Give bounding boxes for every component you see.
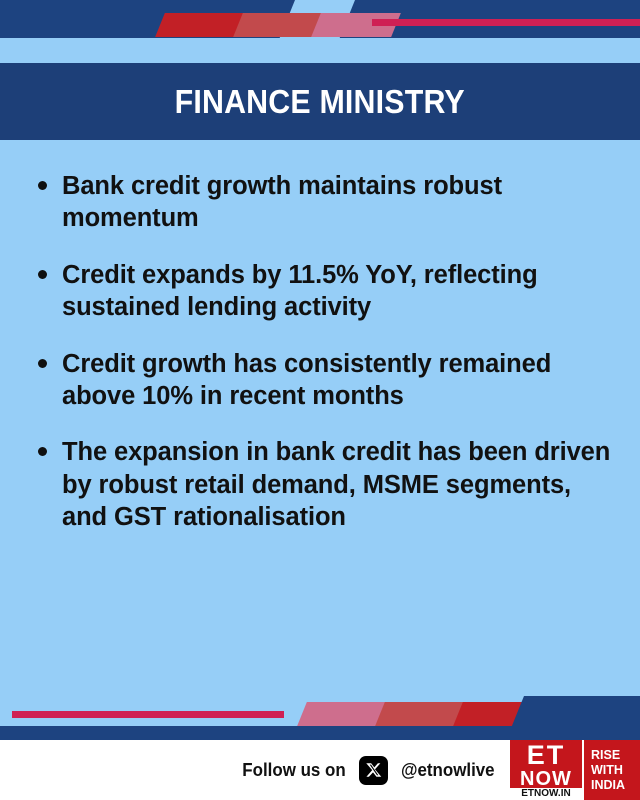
tagline-line-2: WITH — [591, 763, 623, 778]
tagline-line-3: INDIA — [591, 778, 625, 793]
logo-url-text: ETNOW.IN — [510, 788, 582, 800]
etnow-logo-mark: ET NOW ETNOW.IN — [510, 740, 582, 800]
bullet-dot-icon — [38, 270, 47, 279]
bullet-text: Bank credit growth maintains robust mome… — [62, 170, 618, 235]
tagline-line-1: RISE — [591, 748, 620, 763]
etnow-logo[interactable]: ET NOW ETNOW.IN RISE WITH INDIA — [510, 740, 640, 800]
logo-now-text: NOW — [520, 769, 572, 789]
logo-tagline: RISE WITH INDIA — [582, 740, 640, 800]
news-card: FINANCE MINISTRY Bank credit growth main… — [0, 0, 640, 800]
list-item: Bank credit growth maintains robust mome… — [30, 170, 618, 235]
bullet-dot-icon — [38, 359, 47, 368]
top-decorative-band — [0, 0, 640, 63]
bottom-navy-bar — [0, 726, 640, 740]
page-title: FINANCE MINISTRY — [175, 83, 465, 121]
top-stripe-red-mid — [233, 13, 323, 37]
social-handle[interactable]: @etnowlive — [401, 760, 495, 781]
bullet-text: Credit growth has consistently remained … — [62, 348, 618, 413]
bullet-text: Credit expands by 11.5% YoY, reflecting … — [62, 259, 618, 324]
x-twitter-icon[interactable] — [359, 756, 388, 785]
follow-us-label: Follow us on — [243, 760, 346, 781]
top-stripe-red-dark — [155, 13, 245, 37]
bottom-decorative-band — [0, 696, 640, 740]
follow-us-group: Follow us on @etnowlive — [239, 756, 498, 785]
top-crimson-rule — [372, 19, 640, 26]
content-area: Bank credit growth maintains robust mome… — [0, 140, 640, 696]
list-item: The expansion in bank credit has been dr… — [30, 436, 618, 533]
bullet-list: Bank credit growth maintains robust mome… — [30, 170, 618, 533]
footer: Follow us on @etnowlive ET NOW ETNOW.IN … — [0, 740, 640, 800]
bottom-crimson-rule — [12, 711, 284, 718]
bottom-stripe-red-mid — [375, 702, 465, 726]
bottom-stripe-pink — [297, 702, 387, 726]
bullet-text: The expansion in bank credit has been dr… — [62, 436, 618, 533]
title-band: FINANCE MINISTRY — [0, 63, 640, 140]
bullet-dot-icon — [38, 447, 47, 456]
logo-et-text: ET — [527, 743, 566, 768]
list-item: Credit growth has consistently remained … — [30, 348, 618, 413]
list-item: Credit expands by 11.5% YoY, reflecting … — [30, 259, 618, 324]
bullet-dot-icon — [38, 181, 47, 190]
